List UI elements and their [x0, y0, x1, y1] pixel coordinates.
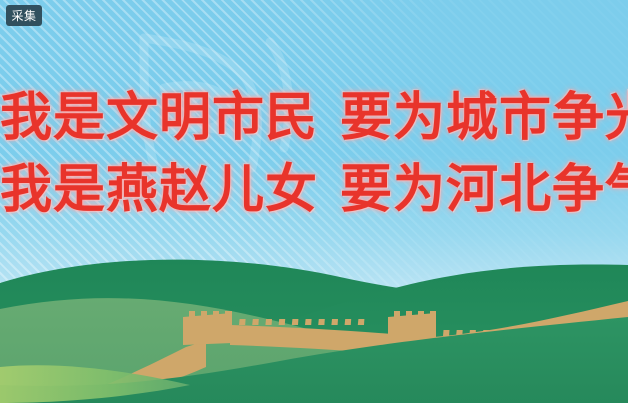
capture-button[interactable]: 采集 — [6, 5, 42, 26]
poster-canvas: 我是文明市民要为城市争光 我是燕赵儿女要为河北争气 采集 — [0, 0, 628, 403]
sky-watermark-emblem — [92, 18, 322, 198]
watchtower-right — [388, 313, 436, 343]
landscape-illustration — [0, 243, 628, 403]
watchtower-left — [183, 313, 232, 345]
